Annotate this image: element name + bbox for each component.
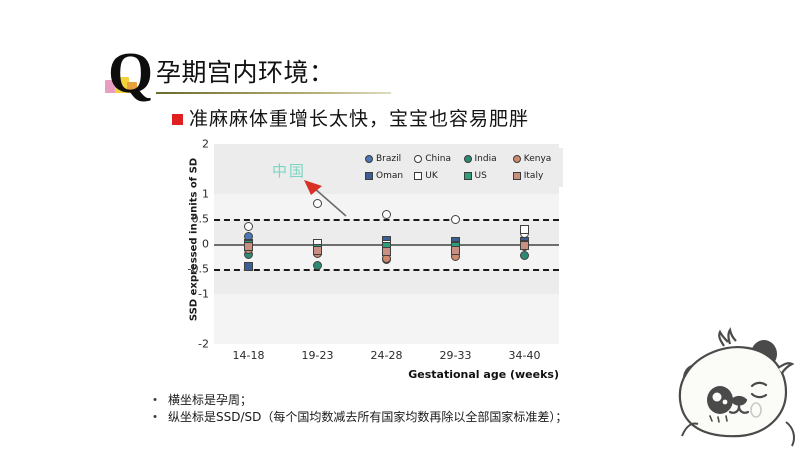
y-tick-label: 0.5 bbox=[192, 213, 210, 226]
list-item: • 横坐标是孕周； bbox=[150, 392, 620, 408]
legend-entry-kenya: Kenya bbox=[513, 151, 561, 167]
panda-mascot-icon bbox=[668, 318, 800, 450]
legend-label: Brazil bbox=[376, 154, 401, 164]
x-tick-label: 34-40 bbox=[509, 349, 541, 362]
legend-swatch-icon bbox=[513, 172, 521, 180]
x-tick-label: 29-33 bbox=[440, 349, 472, 362]
reference-line--0.5 bbox=[214, 269, 559, 271]
page-title: 孕期宫内环境： bbox=[156, 58, 335, 88]
subtitle-text: 准麻麻体重增长太快，宝宝也容易肥胖 bbox=[189, 108, 529, 130]
legend-swatch-icon bbox=[464, 155, 472, 163]
legend-entry-oman: Oman bbox=[365, 168, 413, 184]
notes-list: • 横坐标是孕周； • 纵坐标是SSD/SD（每个国均数减去所有国家均数再除以全… bbox=[150, 392, 620, 426]
note-text: 纵坐标是SSD/SD（每个国均数减去所有国家均数再除以全部国家标准差）； bbox=[168, 409, 567, 425]
legend-label: Italy bbox=[524, 171, 544, 181]
legend-entry-us: US bbox=[464, 168, 512, 184]
legend-swatch-icon bbox=[414, 155, 422, 163]
china-annotation-arrow-icon bbox=[300, 176, 360, 226]
data-point-china bbox=[451, 215, 460, 224]
chart-legend: BrazilChinaIndiaKenyaOmanUKUSItaly bbox=[362, 148, 563, 187]
legend-label: UK bbox=[425, 171, 438, 181]
data-point-italy bbox=[520, 241, 529, 250]
note-text: 横坐标是孕周； bbox=[168, 392, 252, 408]
logo-letter: Q bbox=[108, 44, 153, 102]
data-point-oman bbox=[244, 262, 253, 271]
bullet-icon: • bbox=[150, 392, 160, 408]
data-point-italy bbox=[451, 246, 460, 255]
q-logo: Q bbox=[104, 52, 158, 102]
legend-swatch-icon bbox=[513, 155, 521, 163]
legend-entry-china: China bbox=[414, 151, 462, 167]
bullet-icon: • bbox=[150, 409, 160, 425]
y-tick-label: -1 bbox=[198, 288, 209, 301]
legend-entry-brazil: Brazil bbox=[365, 151, 413, 167]
y-tick-label: -0.5 bbox=[188, 263, 209, 276]
y-tick-label: 1 bbox=[202, 188, 209, 201]
legend-swatch-icon bbox=[365, 155, 373, 163]
data-point-italy bbox=[382, 247, 391, 256]
legend-entry-uk: UK bbox=[414, 168, 462, 184]
data-point-uk bbox=[520, 225, 529, 234]
x-axis-title: Gestational age (weeks) bbox=[214, 368, 559, 381]
data-point-italy bbox=[313, 246, 322, 255]
plot-band bbox=[214, 294, 559, 344]
data-point-italy bbox=[244, 242, 253, 251]
legend-entry-india: India bbox=[464, 151, 512, 167]
data-point-china bbox=[382, 210, 391, 219]
data-point-china bbox=[244, 222, 253, 231]
subtitle-row: 准麻麻体重增长太快，宝宝也容易肥胖 bbox=[172, 108, 529, 130]
legend-label: US bbox=[475, 171, 487, 181]
x-tick-label: 14-18 bbox=[233, 349, 265, 362]
legend-label: India bbox=[475, 154, 497, 164]
legend-label: Oman bbox=[376, 171, 403, 181]
title-underline bbox=[156, 92, 391, 94]
data-point-india bbox=[520, 251, 529, 260]
slide-header: Q 孕期宫内环境： bbox=[104, 52, 624, 110]
y-tick-label: 0 bbox=[202, 238, 209, 251]
legend-swatch-icon bbox=[414, 172, 422, 180]
y-axis-title: SSD expressed in units of SD bbox=[189, 140, 200, 340]
plot-area: 210.50-0.5-1-214-1819-2324-2829-3334-40B… bbox=[214, 144, 559, 344]
legend-label: China bbox=[425, 154, 451, 164]
x-tick-label: 24-28 bbox=[371, 349, 403, 362]
red-square-bullet-icon bbox=[172, 114, 183, 125]
data-point-india bbox=[313, 261, 322, 270]
legend-swatch-icon bbox=[365, 172, 373, 180]
x-tick-label: 19-23 bbox=[302, 349, 334, 362]
list-item: • 纵坐标是SSD/SD（每个国均数减去所有国家均数再除以全部国家标准差）； bbox=[150, 409, 620, 425]
chart-figure: SSD expressed in units of SD 210.50-0.5-… bbox=[166, 142, 578, 390]
y-tick-label: -2 bbox=[198, 338, 209, 351]
legend-entry-italy: Italy bbox=[513, 168, 561, 184]
y-tick-label: 2 bbox=[202, 138, 209, 151]
reference-line-0.5 bbox=[214, 219, 559, 221]
legend-swatch-icon bbox=[464, 172, 472, 180]
legend-label: Kenya bbox=[524, 154, 552, 164]
